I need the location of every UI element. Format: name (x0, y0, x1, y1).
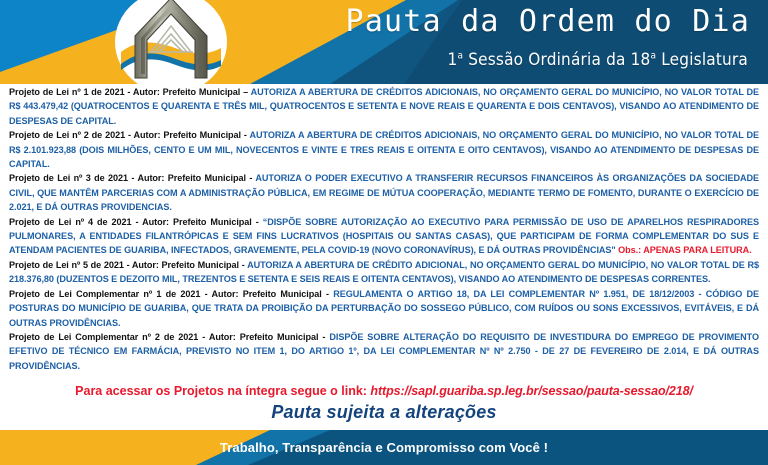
item-label: Projeto de Lei nº 5 de 2021 - Autor: Pre… (9, 260, 247, 270)
access-link-line: Para acessar os Projetos na íntegra segu… (0, 384, 768, 398)
item-label: Projeto de Lei nº 3 de 2021 - Autor: Pre… (9, 173, 255, 183)
subtitle-session-number: 1 (448, 50, 458, 70)
item-label: Projeto de Lei nº 2 de 2021 - Autor: Pre… (9, 130, 249, 140)
agenda-items-list: Projeto de Lei nº 1 de 2021 - Autor: Pre… (0, 85, 768, 380)
item-label: Projeto de Lei Complementar nº 2 de 2021… (9, 332, 329, 342)
access-link-prefix: Para acessar os Projetos na íntegra segu… (75, 384, 370, 398)
item-observation: Obs.: APENAS PARA LEITURA. (618, 245, 752, 255)
footer-slogan: Trabalho, Transparência e Compromisso co… (0, 430, 768, 465)
logo-graphic-icon (115, 0, 227, 84)
agenda-item: Projeto de Lei nº 4 de 2021 - Autor: Pre… (9, 215, 759, 258)
agenda-change-notice: Pauta sujeita a alterações (0, 402, 768, 423)
item-label: Projeto de Lei nº 1 de 2021 - Autor: Pre… (9, 87, 251, 97)
agenda-item: Projeto de Lei Complementar nº 2 de 2021… (9, 330, 759, 373)
agenda-url-link[interactable]: https://sapl.guariba.sp.leg.br/sessao/pa… (370, 384, 692, 398)
page-header: Pauta da Ordem do Dia 1a Sessão Ordinári… (0, 0, 768, 84)
agenda-item: Projeto de Lei nº 5 de 2021 - Autor: Pre… (9, 258, 759, 287)
subtitle-end: Legislatura (656, 50, 748, 70)
page-title: Pauta da Ordem do Dia (346, 4, 751, 39)
item-label: Projeto de Lei nº 4 de 2021 - Autor: Pre… (9, 217, 263, 227)
page-subtitle: 1a Sessão Ordinária da 18a Legislatura (448, 50, 748, 70)
camara-guariba-logo (115, 0, 227, 84)
agenda-item: Projeto de Lei nº 3 de 2021 - Autor: Pre… (9, 171, 759, 214)
page-footer: Trabalho, Transparência e Compromisso co… (0, 430, 768, 465)
item-label: Projeto de Lei Complementar nº 1 de 2021… (9, 289, 333, 299)
agenda-item: Projeto de Lei nº 2 de 2021 - Autor: Pre… (9, 128, 759, 171)
agenda-item: Projeto de Lei nº 1 de 2021 - Autor: Pre… (9, 85, 759, 128)
subtitle-middle: Sessão Ordinária da 18 (463, 50, 650, 70)
agenda-item: Projeto de Lei Complementar nº 1 de 2021… (9, 287, 759, 330)
